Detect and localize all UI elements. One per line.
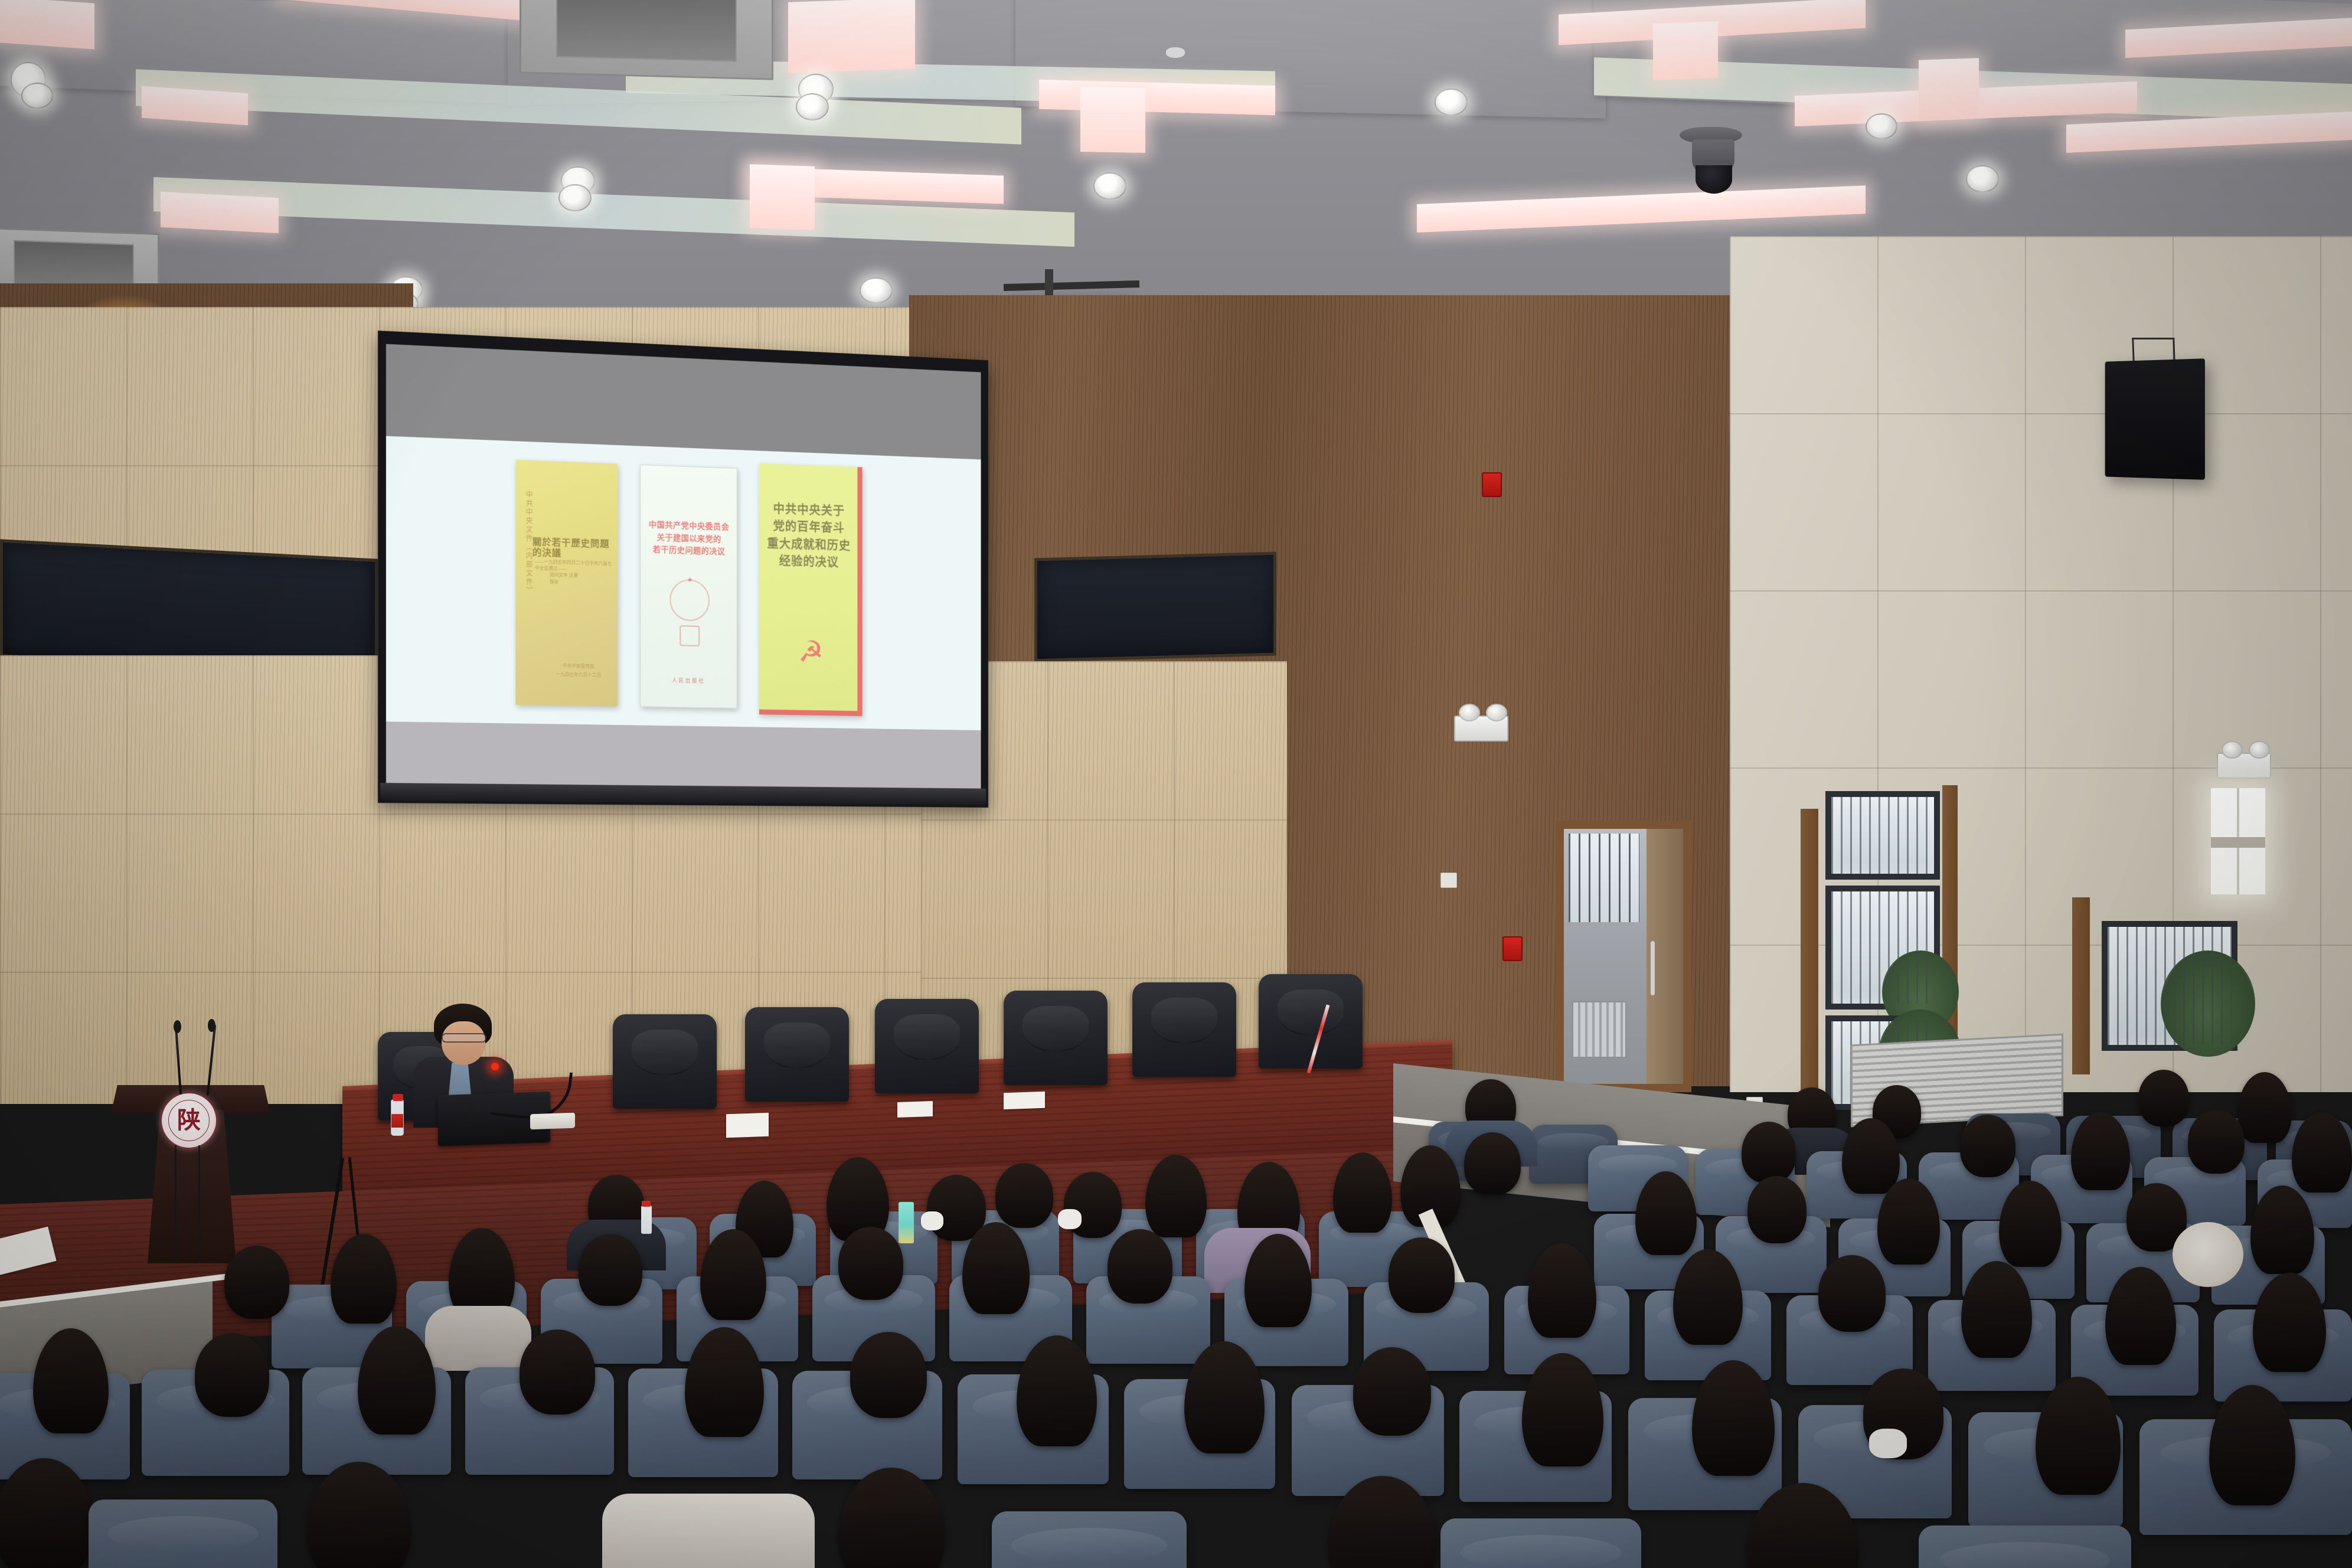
- window-pane: [1825, 886, 1940, 1010]
- lectern-microphone-head: [208, 1019, 215, 1032]
- audience-head: [520, 1329, 595, 1415]
- stage-chair[interactable]: [1259, 974, 1363, 1069]
- audience-seat[interactable]: [1440, 1518, 1641, 1568]
- ceiling-downlight: [558, 184, 592, 211]
- ceiling-light-strip: [1080, 87, 1145, 153]
- booklet2-star-icon: ★: [687, 576, 692, 584]
- glasses-icon: [442, 1033, 486, 1043]
- water-bottle-icon[interactable]: [641, 1206, 652, 1234]
- face-mask-icon: [921, 1211, 943, 1230]
- projection-screen[interactable]: 中共中央文件（内部文件） 關於若干歷史問題的決議 ——一九四五年四月二十日中共六…: [378, 331, 988, 808]
- audience-shoulders: [602, 1494, 815, 1568]
- stage-chair[interactable]: [875, 999, 979, 1093]
- presenter-face: [442, 1021, 485, 1065]
- audience-head: [1747, 1176, 1807, 1243]
- audience-shoulders: [425, 1306, 531, 1371]
- audience-head: [195, 1333, 269, 1417]
- booklet-first-resolution: 中共中央文件（内部文件） 關於若干歷史問題的決議 ——一九四五年四月二十日中共六…: [515, 460, 618, 707]
- water-bottle-icon[interactable]: [899, 1202, 914, 1243]
- side-doorway[interactable]: [1556, 821, 1691, 1092]
- audience-head: [2138, 1070, 2189, 1126]
- paper-on-table: [1004, 1092, 1045, 1109]
- window-pane: [1825, 791, 1940, 880]
- camera-lens-icon: [1696, 165, 1732, 194]
- hammer-sickle-icon: ☭: [798, 637, 828, 669]
- audience-seat[interactable]: [1919, 1525, 2131, 1568]
- ceiling-light-strip: [1039, 80, 1275, 115]
- ceiling-downlight: [1435, 89, 1468, 116]
- audience-head: [1960, 1115, 2015, 1177]
- ceiling-light-strip: [161, 192, 279, 233]
- audience-head: [1108, 1229, 1172, 1304]
- radiator-icon: [1572, 1001, 1626, 1058]
- audience-head: [838, 1468, 945, 1568]
- paper-on-table: [726, 1113, 769, 1138]
- window-wood-trim: [2072, 897, 2090, 1074]
- ceiling-light-strip: [1919, 58, 1979, 120]
- corridor-window: [1569, 834, 1639, 922]
- screen-surface: 中共中央文件（内部文件） 關於若干歷史問題的決議 ——一九四五年四月二十日中共六…: [386, 344, 981, 789]
- audience-head: [307, 1462, 411, 1568]
- ceiling-light-strip: [750, 164, 815, 230]
- audience-head: [2209, 1385, 2295, 1505]
- stage-chair[interactable]: [1004, 991, 1108, 1085]
- audience-head: [850, 1332, 927, 1418]
- booklet3-title: 中共中央关于 党的百年奋斗 重大成就和历史 经验的决议: [766, 500, 852, 572]
- ceiling-light-strip: [142, 86, 248, 126]
- audience-head: [1528, 1243, 1596, 1338]
- air-conditioner-vent: [520, 0, 773, 80]
- fur-collar-icon: [2173, 1222, 2243, 1287]
- audience-head: [2188, 1110, 2245, 1174]
- booklet1-stamp: 党内文件 注意保存: [550, 571, 583, 586]
- screen-letterbox-bottom: [386, 721, 981, 789]
- wall-outlet-icon[interactable]: [1440, 873, 1457, 888]
- smoke-detector-icon: [1166, 47, 1185, 58]
- booklet1-publisher: 中共中央宣传部 一九四五年六月十二日: [541, 662, 615, 680]
- right-stone-wall: [1730, 236, 2352, 1092]
- fire-alarm-icon[interactable]: [1482, 472, 1502, 497]
- audience-head: [838, 1227, 903, 1300]
- booklet2-title: 中国共产党中央委员会 关于建国以来党的 若干历史问题的决议: [646, 518, 732, 558]
- audience-head: [224, 1246, 289, 1319]
- audience-head: [1464, 1132, 1521, 1195]
- audience-head: [1389, 1237, 1455, 1313]
- ceiling-downlight: [860, 277, 893, 303]
- booklet2-stamp-box-icon: [680, 625, 700, 646]
- ceiling-light-strip: [2066, 112, 2352, 153]
- ceiling-downlight: [796, 93, 829, 120]
- emergency-light-icon: [2217, 753, 2271, 779]
- booklet-third-resolution: 中共中央关于 党的百年奋斗 重大成就和历史 经验的决议 ☭: [759, 463, 862, 716]
- audience-head: [579, 1234, 642, 1306]
- audience-head: [1742, 1122, 1796, 1183]
- mic-base-icon: [530, 1113, 575, 1130]
- stage-chair[interactable]: [1132, 982, 1236, 1077]
- mic-cable: [175, 1145, 177, 1263]
- booklet2-seal-icon: [669, 579, 710, 622]
- audience-seat[interactable]: [89, 1500, 277, 1568]
- ceiling-downlight: [1966, 165, 1999, 192]
- lectern-microphone-head: [174, 1020, 181, 1033]
- ceiling-light-strip: [1417, 185, 1866, 233]
- face-mask-icon: [1058, 1209, 1082, 1229]
- booklet1-subtitle: ——一九四五年四月二十日中共六届七中全会通过——: [535, 558, 614, 573]
- ceiling-downlight: [1093, 172, 1126, 200]
- wall-sconce-light: [2211, 788, 2265, 894]
- paper-on-table: [897, 1101, 933, 1118]
- acoustic-panel: [1034, 552, 1276, 662]
- ceiling-light-strip: [788, 0, 915, 73]
- slide-content: 中共中央文件（内部文件） 關於若干歷史問題的決議 ——一九四五年四月二十日中共六…: [386, 436, 981, 730]
- door-handle-icon[interactable]: [1651, 941, 1655, 995]
- stage-chair[interactable]: [613, 1014, 717, 1109]
- booklet1-title: 關於若干歷史問題的決議: [533, 537, 612, 560]
- ceiling-downlight: [1866, 113, 1897, 139]
- ceiling-light-strip: [0, 0, 94, 50]
- loudspeaker-icon: [2105, 358, 2205, 480]
- auditorium-scene: 中共中央文件（内部文件） 關於若干歷史問題的決議 ——一九四五年四月二十日中共六…: [0, 0, 2352, 1568]
- university-seal-icon: 陕: [161, 1092, 217, 1149]
- window-pane: [2102, 921, 2237, 1051]
- ceiling-downlight: [21, 83, 53, 109]
- ceiling-light-strip: [1653, 21, 1718, 80]
- mic-cable: [198, 1145, 200, 1263]
- window-wood-trim: [1801, 809, 1818, 1092]
- face-mask-icon: [1869, 1429, 1907, 1458]
- audience-head: [1818, 1255, 1886, 1332]
- stage-chair[interactable]: [745, 1007, 849, 1102]
- fire-alarm-icon[interactable]: [1502, 936, 1523, 961]
- audience-head: [1353, 1347, 1431, 1436]
- audience-seat[interactable]: [992, 1511, 1187, 1568]
- booklet2-publisher: 人民出版社: [641, 676, 737, 685]
- booklet-second-resolution: 中国共产党中央委员会 关于建国以来党的 若干历史问题的决议 ★ 人民出版社: [640, 465, 737, 708]
- audience-head: [995, 1163, 1053, 1228]
- water-bottle-icon[interactable]: [391, 1099, 404, 1136]
- emergency-light-icon: [1454, 716, 1508, 741]
